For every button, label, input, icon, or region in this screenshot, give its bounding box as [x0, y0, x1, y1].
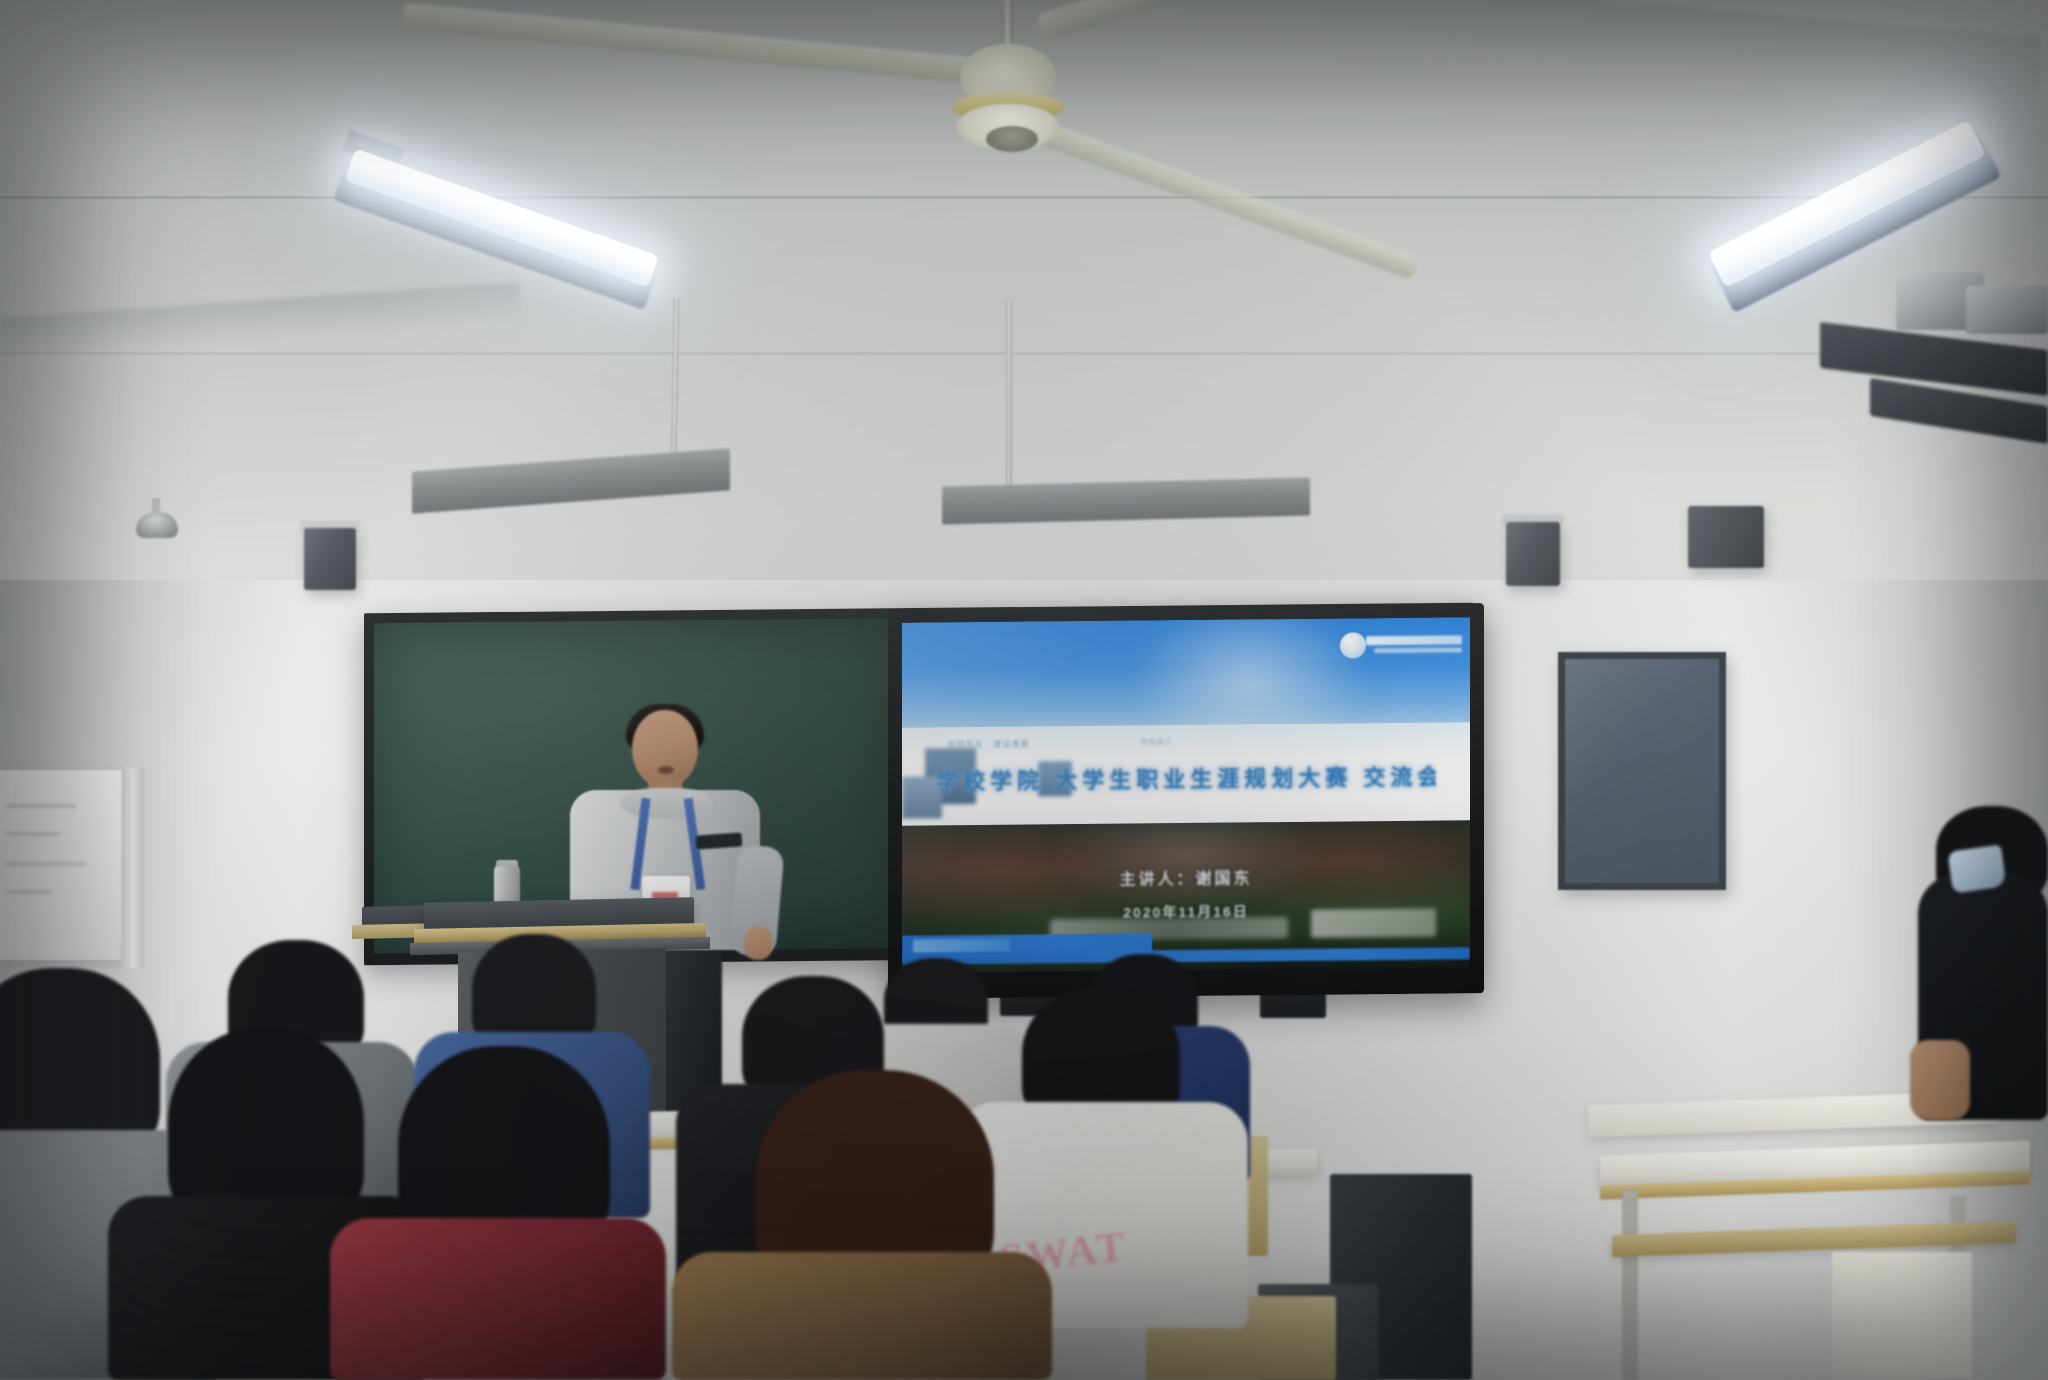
slide-photo-signage [1311, 908, 1436, 937]
whiteboard-writing [6, 804, 76, 808]
audience-body [330, 1218, 666, 1380]
slide-title: 学校学院 大学生职业生涯规划大赛 交流会 [936, 759, 1436, 796]
whiteboard-writing [6, 890, 52, 894]
presenter-mouth [658, 766, 674, 774]
fan-light-icon [986, 126, 1038, 152]
security-camera-icon [136, 512, 178, 538]
whiteboard-writing [6, 832, 60, 836]
wall-speaker-right [1506, 522, 1560, 586]
desk-leg [1622, 1190, 1638, 1380]
audience-body-brown-coat [672, 1252, 1052, 1380]
ceiling-seam [0, 196, 2048, 199]
classroom-photo: 校园风光 · 建设发展 学院简介 学校学院 大学生职业生涯规划大赛 交流会 主讲… [0, 0, 2048, 1380]
standing-person-hand [1910, 1040, 1970, 1120]
org-name-line-2 [1374, 647, 1462, 653]
whiteboard-post [122, 768, 144, 968]
face-mask-icon [1947, 844, 2006, 893]
presenter-hood-collar [620, 788, 712, 818]
panel-hanger-rod [1006, 300, 1012, 488]
classroom-chair [1832, 1252, 1972, 1378]
university-emblem-icon [1340, 632, 1366, 658]
whiteboard [0, 770, 122, 960]
whiteboard-writing [6, 862, 86, 866]
wall-speaker-left [304, 528, 356, 590]
notice-board-glare [1565, 659, 1719, 883]
projector-lens-housing [1966, 286, 2048, 334]
presentation-display[interactable]: 校园风光 · 建设发展 学院简介 学校学院 大学生职业生涯规划大赛 交流会 主讲… [888, 603, 1484, 999]
tv-stand-foot [1260, 992, 1326, 1018]
presenter-head [632, 710, 698, 788]
notice-board[interactable] [1558, 652, 1726, 890]
display-screen[interactable]: 校园风光 · 建设发展 学院简介 学校学院 大学生职业生涯规划大赛 交流会 主讲… [902, 617, 1470, 972]
org-name-line-1 [1366, 635, 1462, 645]
presenter-hand [744, 926, 772, 960]
wall-speaker-far-right [1688, 506, 1764, 568]
ceiling-seam [0, 352, 2048, 355]
